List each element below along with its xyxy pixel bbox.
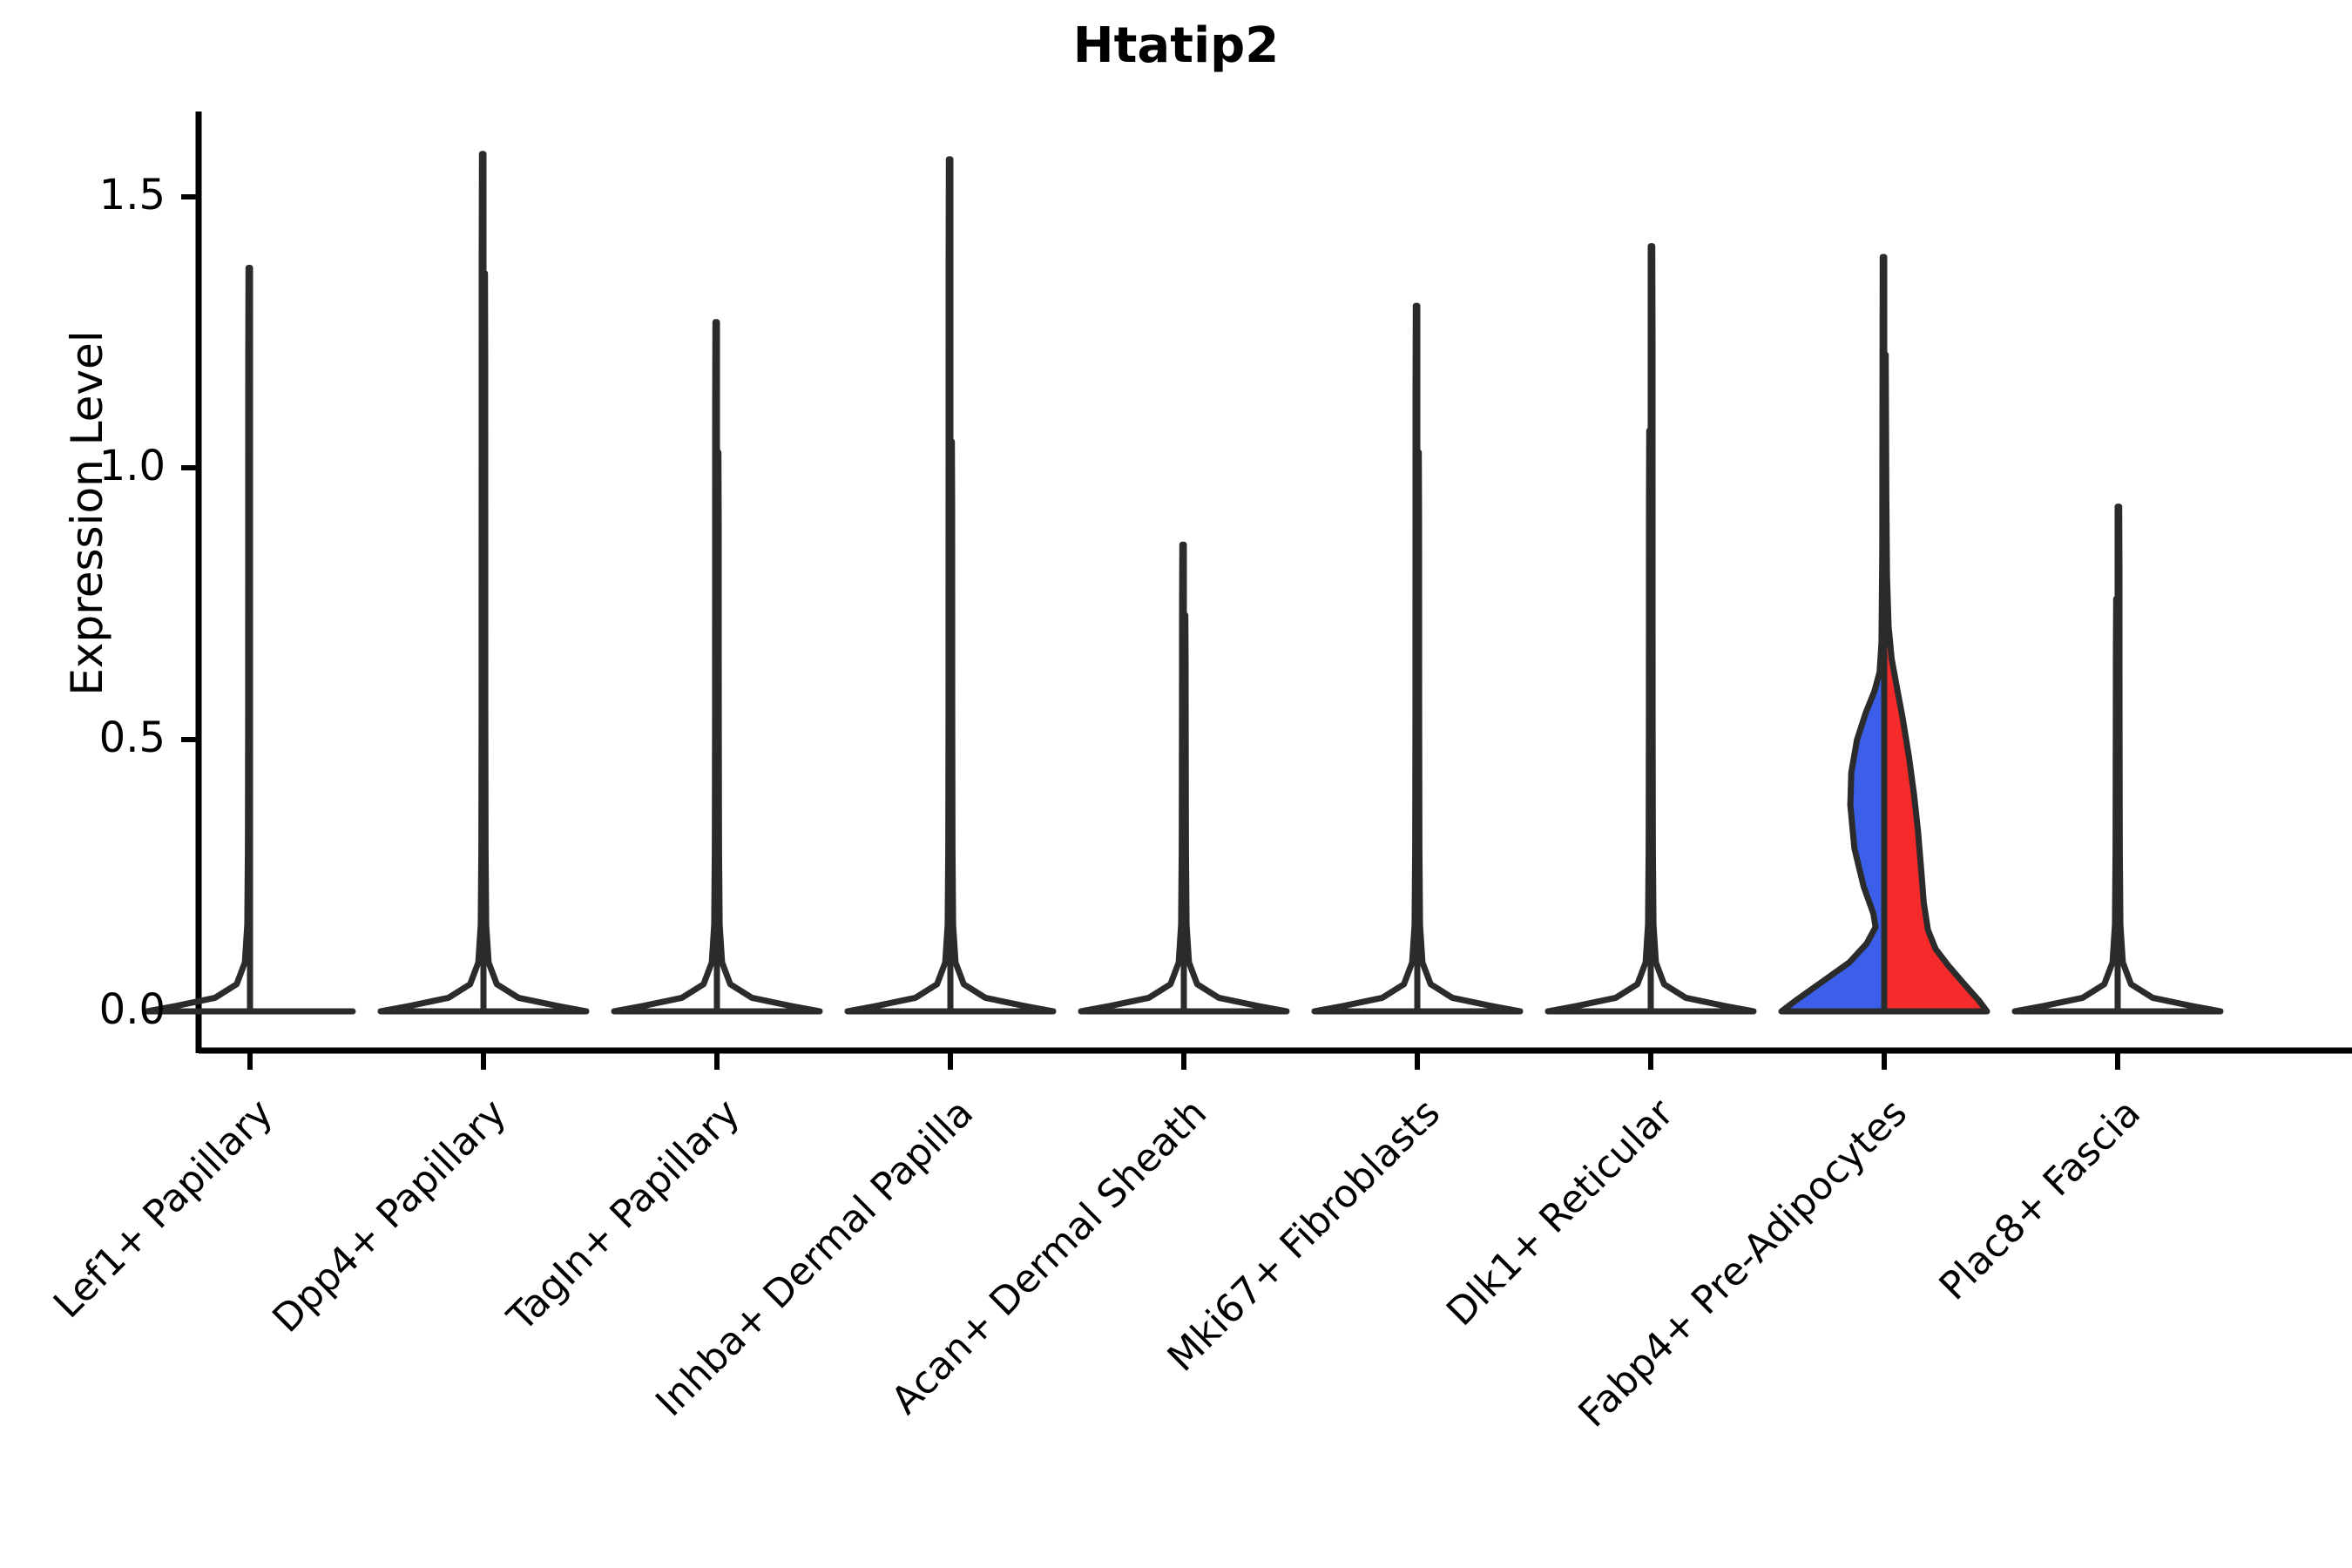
violin-half-group-red-5: [1417, 452, 1520, 1011]
violin-half-group-red-1: [483, 274, 586, 1011]
y-tick-label-1: 1.5: [26, 171, 166, 220]
violin-half-group-red-4: [1184, 615, 1287, 1011]
violin-half-group-red-6: [1651, 247, 1754, 1011]
violin-half-group-blue-7: [1781, 257, 1884, 1011]
violin-half-group-blue-5: [1315, 306, 1417, 1011]
violin-half-group-blue-2: [614, 322, 717, 1011]
violin-plot-figure: Htatip2 Expression Level 1.5 1.0 0.5 0.0…: [0, 0, 2352, 1568]
y-tick-label-2: 1.0: [26, 442, 166, 490]
violin-half-group-red-3: [950, 442, 1053, 1011]
violin-group: [147, 154, 2220, 1011]
violin-half-group-red-2: [717, 452, 820, 1011]
violin-half-group-blue-6: [1548, 430, 1651, 1011]
violin-half-group-red-7: [1884, 355, 1987, 1011]
violin-half-group-blue-4: [1081, 544, 1184, 1011]
violin-half-group-blue-3: [848, 159, 950, 1011]
y-tick-label-4: 0.0: [26, 985, 166, 1034]
violin-half-group-blue-1: [381, 154, 483, 1011]
axis-spines: [199, 112, 2352, 1053]
violin-half-group-blue-8: [2015, 599, 2118, 1012]
y-tick-label-3: 0.5: [26, 713, 166, 762]
violin-half-group-red-8: [2118, 507, 2220, 1011]
